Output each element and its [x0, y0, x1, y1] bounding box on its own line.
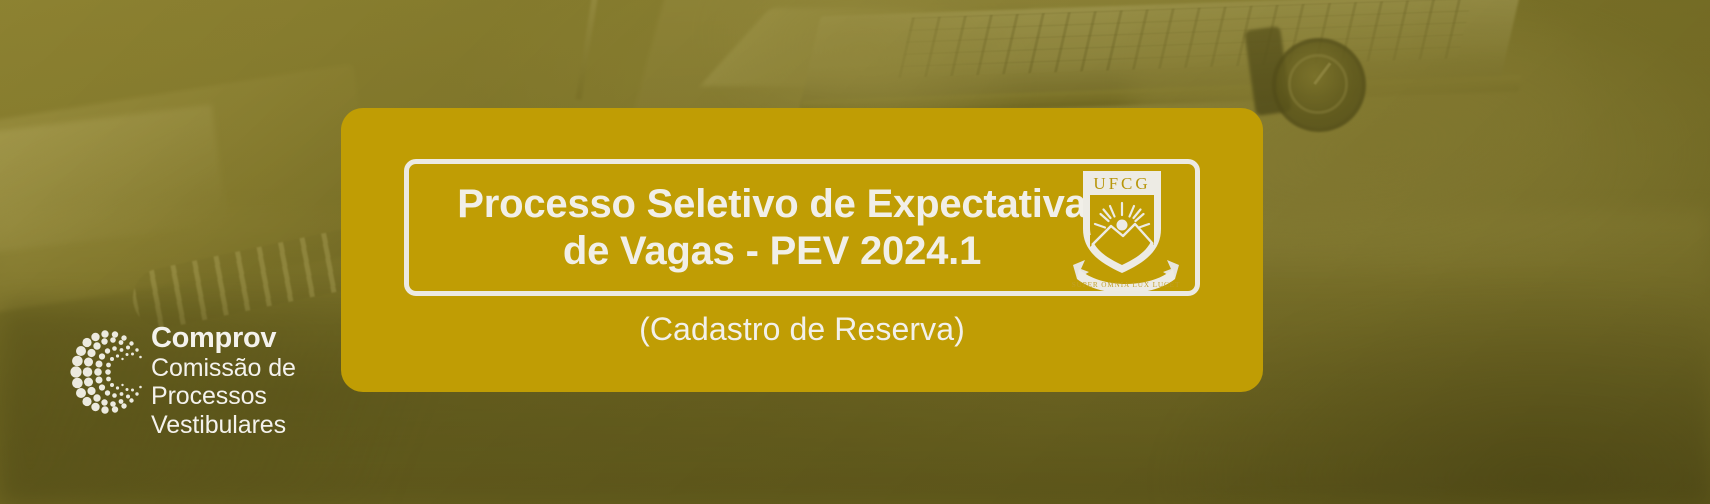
comprov-dots-c-icon	[62, 326, 146, 418]
comprov-subtitle-line-2: Processos Vestibulares	[151, 382, 402, 439]
page-title-line-1: Processo Seletivo de Expectativa	[457, 181, 1086, 227]
svg-text:SUPER OMNIA LUX LUCET: SUPER OMNIA LUX LUCET	[1072, 281, 1181, 289]
comprov-name: Comprov	[151, 323, 402, 354]
comprov-logo: Comprov Comissão de Processos Vestibular…	[62, 326, 402, 436]
ufcg-crest-icon: UFCG	[1067, 165, 1185, 291]
page-subtitle: (Cadastro de Reserva)	[341, 311, 1263, 348]
svg-text:UFCG: UFCG	[1093, 174, 1150, 193]
pev-2024-1-banner: Processo Seletivo de Expectativa de Vaga…	[0, 0, 1710, 504]
comprov-subtitle-line-1: Comissão de	[151, 354, 402, 383]
page-title-line-2: de Vagas - PEV 2024.1	[563, 228, 981, 274]
page-title: Processo Seletivo de Expectativa de Vaga…	[409, 164, 1125, 291]
comprov-wordmark: Comprov Comissão de Processos Vestibular…	[151, 323, 402, 439]
title-outline-box: Processo Seletivo de Expectativa de Vaga…	[404, 159, 1200, 296]
title-card: Processo Seletivo de Expectativa de Vaga…	[341, 108, 1263, 392]
